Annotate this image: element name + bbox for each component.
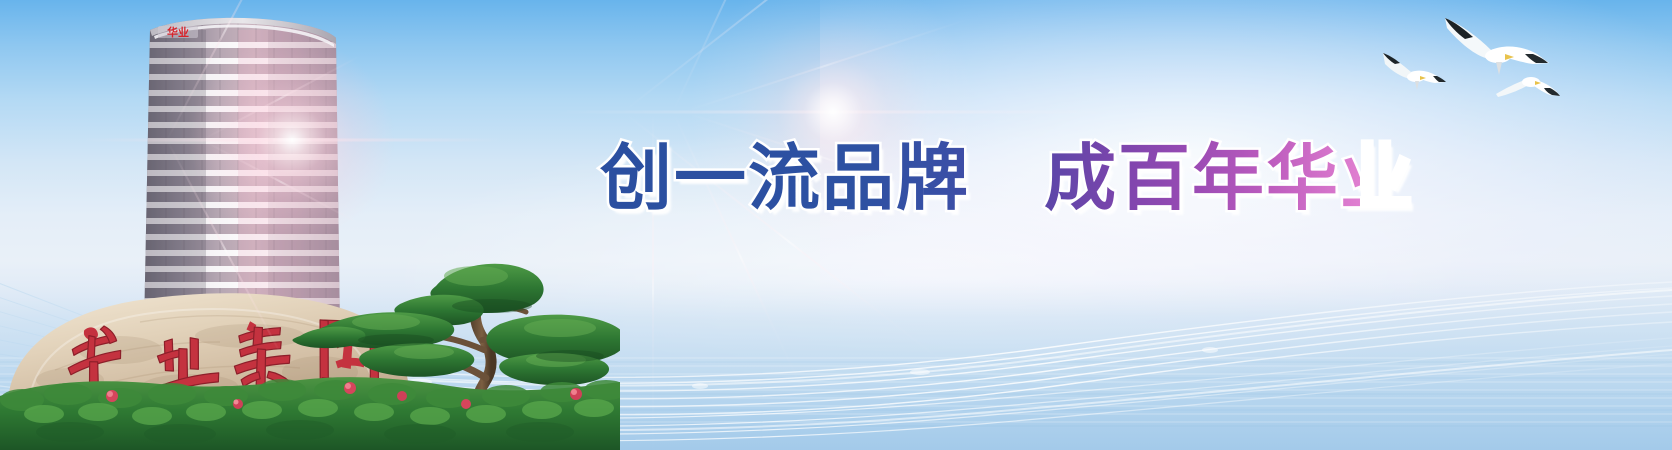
banner-slogan: 创一流品牌 成百年华业 创一流品牌 成百年华业 创一流品牌 成百年华业 [600, 133, 1360, 223]
slogan-text: 创一流品牌 成百年华业 [600, 133, 1360, 223]
hero-banner: 华业 [0, 0, 1672, 450]
svg-text:华业: 华业 [167, 25, 189, 39]
monument-rock-and-planting [0, 200, 620, 450]
seagull-icon [1490, 60, 1562, 106]
trimmed-hedge [0, 377, 620, 450]
building-logo-sign: 华业 [158, 25, 198, 39]
